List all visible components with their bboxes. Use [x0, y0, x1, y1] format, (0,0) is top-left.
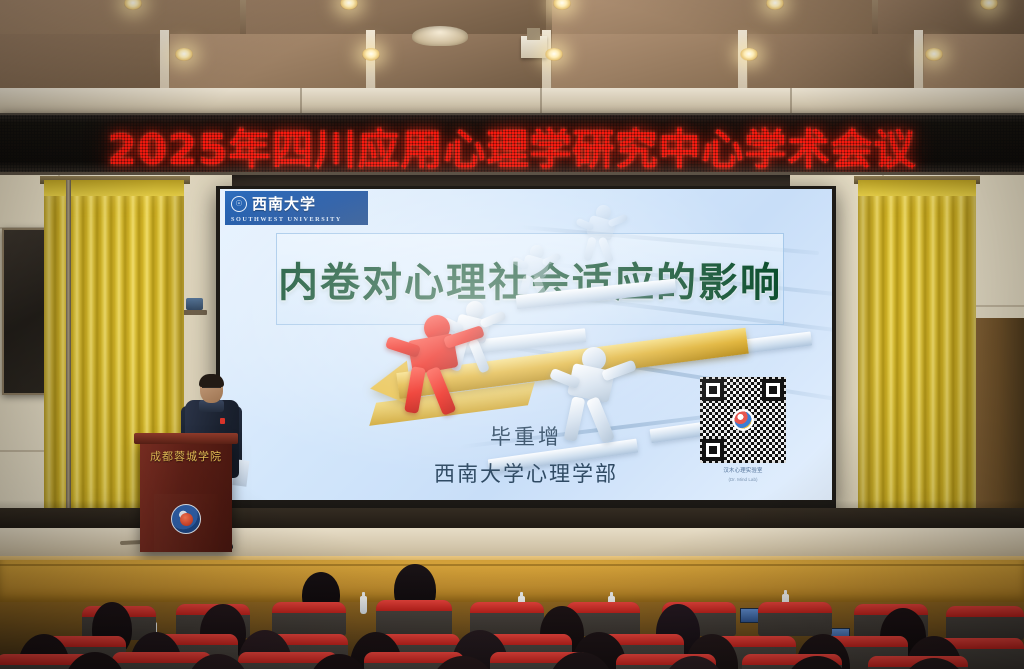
auditorium-photo: 2025年四川应用心理学研究中心学术会议 ☉ 西南大学 SOU [0, 0, 1024, 669]
qr-code-block: 汉木心理实验室 (Dr. Mind Lab) [694, 377, 792, 482]
led-banner-text: 2025年四川应用心理学研究中心学术会议 [0, 115, 1024, 175]
wall-speaker [186, 298, 203, 310]
runner-figure-background [576, 205, 630, 267]
ceiling-panel [748, 34, 918, 92]
seat[interactable] [376, 600, 452, 636]
seat[interactable] [758, 602, 832, 636]
seal-icon: ☉ [231, 196, 247, 212]
logo-en-text: SOUTHWEST UNIVERSITY [231, 216, 368, 223]
qr-code[interactable] [700, 377, 786, 463]
podium-calligraphy: 成都蓉城学院 [146, 448, 226, 464]
rear-wood-wall [0, 560, 1024, 602]
ceiling-panel [552, 34, 742, 92]
podium: 成都蓉城学院 [140, 440, 232, 552]
ceiling-panel [246, 0, 546, 36]
wall-speaker-bracket [182, 310, 207, 315]
ceiling-light [362, 48, 380, 61]
soffit-band [0, 88, 1024, 114]
qr-caption: 汉木心理实验室 [694, 466, 792, 474]
lapel-badge [220, 418, 225, 424]
projection-screen: ☉ 西南大学 SOUTHWEST UNIVERSITY 内卷对心理社会适应的影响 [216, 186, 836, 508]
seat[interactable] [272, 602, 346, 636]
ceiling-light [545, 48, 563, 61]
audience-area [0, 560, 1024, 669]
ceiling-panel [924, 34, 1024, 92]
university-logo: ☉ 西南大学 SOUTHWEST UNIVERSITY [225, 191, 368, 225]
ceiling-panel [552, 0, 872, 36]
water-bottle [360, 596, 367, 614]
led-banner: 2025年四川应用心理学研究中心学术会议 [0, 113, 1024, 175]
ceiling-panel [0, 34, 165, 92]
qr-caption-en: (Dr. Mind Lab) [694, 477, 792, 482]
presentation-slide: ☉ 西南大学 SOUTHWEST UNIVERSITY 内卷对心理社会适应的影响 [220, 189, 832, 500]
ceiling-light [740, 48, 758, 61]
podium-emblem [171, 504, 201, 534]
logo-cn-text: 西南大学 [252, 193, 316, 214]
ceiling-light [175, 48, 193, 61]
ceiling-light [925, 48, 943, 61]
ceiling-panel [0, 0, 240, 36]
stage-curtain-right [858, 180, 976, 552]
ceiling-panel [878, 0, 1024, 36]
qr-center-logo [735, 412, 752, 429]
ceiling-dome-fixture [412, 26, 468, 46]
seat[interactable] [946, 606, 1024, 640]
ceiling-panel [170, 34, 370, 92]
glasses-icon [202, 387, 221, 392]
runner-figure-lead [390, 315, 486, 419]
ceiling [0, 0, 1024, 92]
